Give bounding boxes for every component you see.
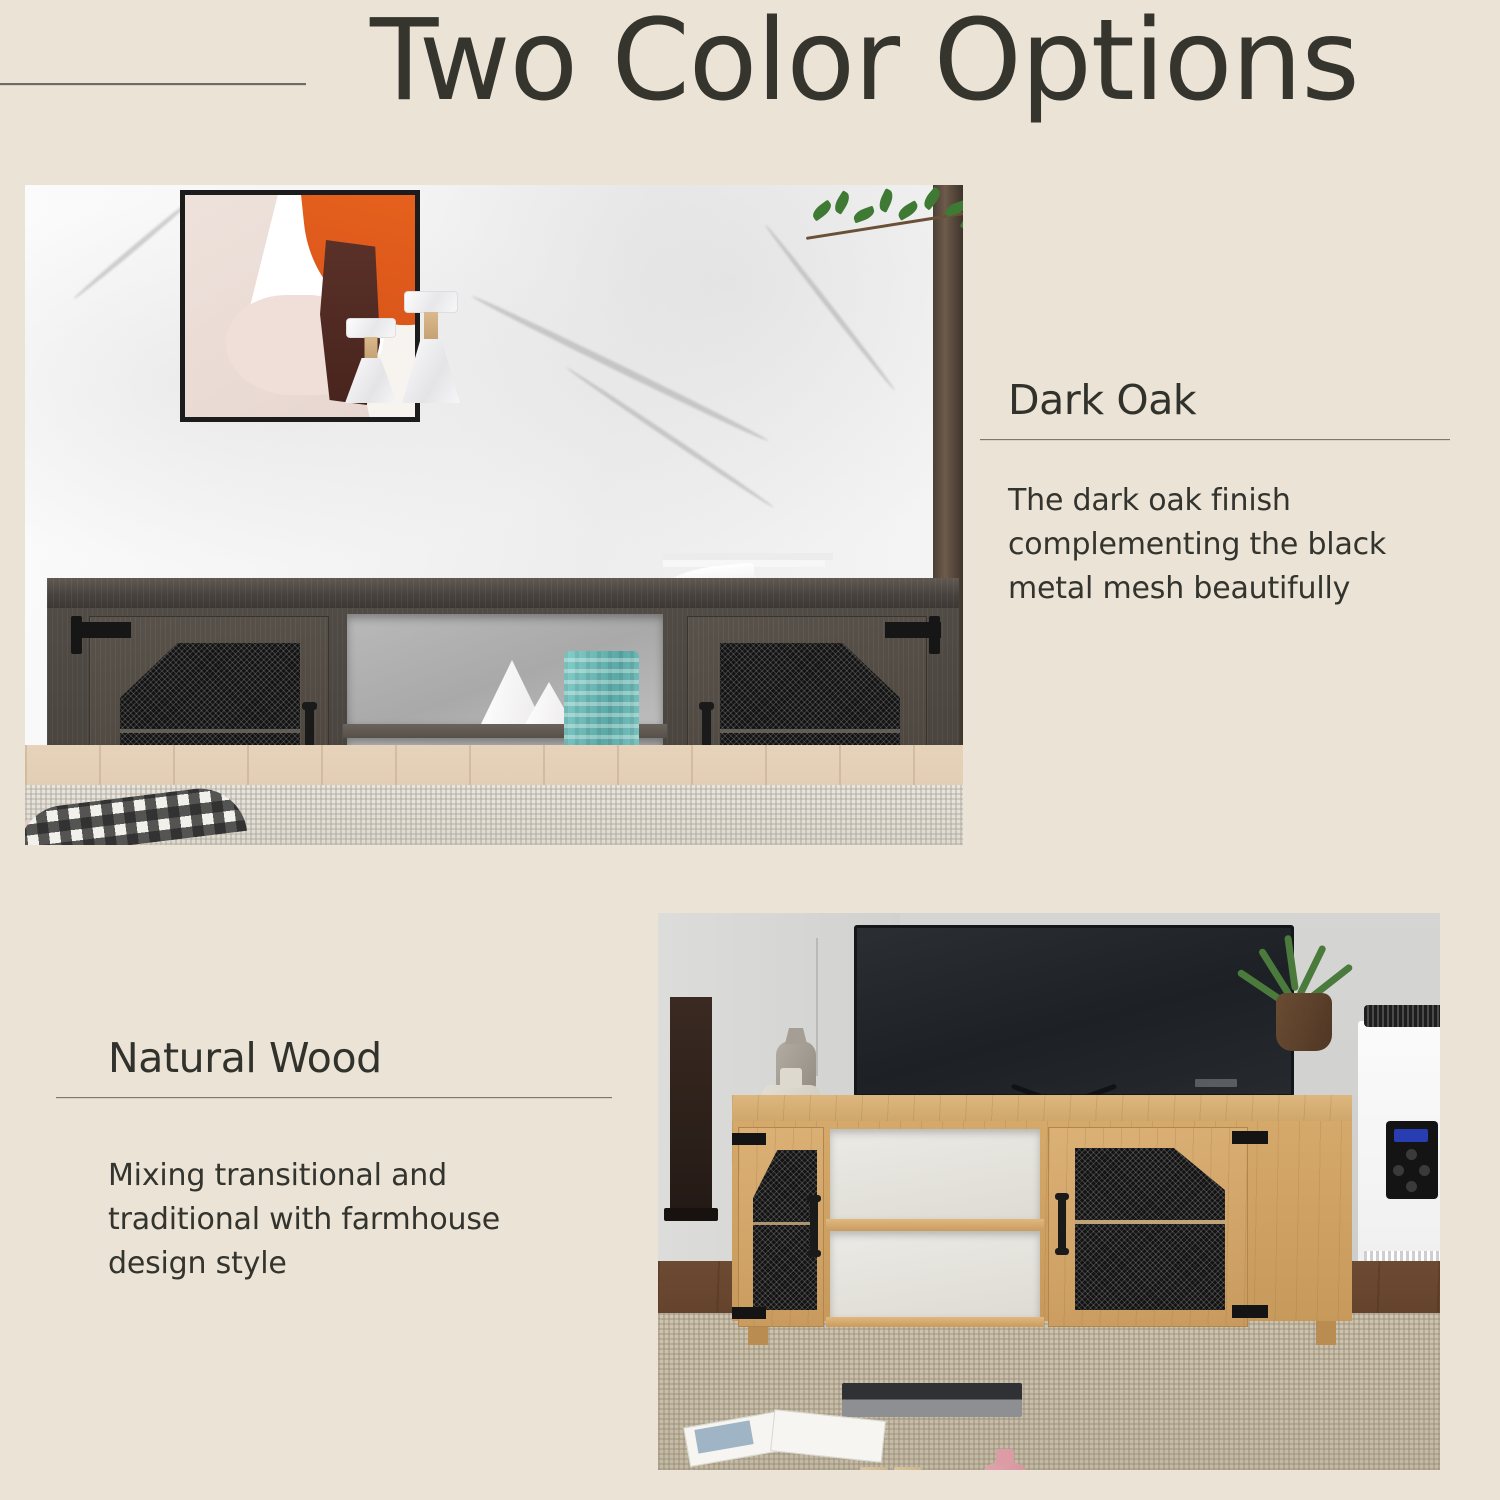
open-magazine bbox=[686, 1405, 886, 1461]
dark-oak-description: The dark oak finishcomplementing the bla… bbox=[980, 479, 1450, 611]
bottom-hinge-strap bbox=[732, 1307, 766, 1319]
mesh-shelf-highlight bbox=[1075, 1220, 1225, 1224]
magazine-page bbox=[770, 1409, 886, 1462]
top-hinge-plate bbox=[71, 616, 82, 654]
right-door-handle[interactable] bbox=[1058, 1195, 1066, 1253]
top-hinge-plate bbox=[929, 616, 940, 654]
title-accent-rule bbox=[0, 83, 306, 85]
candle-holder-stem bbox=[424, 312, 438, 340]
tv-brand-logo bbox=[1195, 1079, 1237, 1087]
top-hinge-strap bbox=[732, 1133, 766, 1145]
mesh-inner-shelf-line bbox=[753, 1222, 817, 1225]
top-hinge-strap bbox=[75, 622, 131, 638]
pink-vase bbox=[982, 1463, 1028, 1470]
natural-wood-description: Mixing transitional andtraditional with … bbox=[56, 1154, 612, 1286]
dark-oak-heading-rule bbox=[980, 439, 1450, 440]
marble-candle-holder bbox=[343, 318, 399, 403]
cabinet-top-surface bbox=[47, 578, 959, 608]
appliance-button[interactable] bbox=[1419, 1165, 1430, 1176]
leaf-icon bbox=[832, 190, 853, 214]
appliance-grill bbox=[1364, 1005, 1440, 1027]
dark-oak-text-block: Dark Oak The dark oak finishcomplementin… bbox=[980, 378, 1450, 611]
page-title: Two Color Options bbox=[370, 5, 1490, 117]
vase-neck bbox=[996, 1449, 1014, 1465]
natural-wood-heading: Natural Wood bbox=[56, 1036, 612, 1081]
appliance-display bbox=[1394, 1129, 1428, 1142]
natural-wood-heading-rule bbox=[56, 1097, 612, 1098]
dark-oak-heading: Dark Oak bbox=[980, 378, 1450, 423]
candle-holder-base bbox=[402, 339, 460, 403]
natural-wood-photo bbox=[658, 913, 1440, 1470]
wood-block bbox=[894, 1467, 922, 1470]
branch-stem bbox=[806, 209, 963, 240]
mesh-inner-shelf-line bbox=[720, 729, 900, 733]
leaf-icon bbox=[810, 200, 834, 222]
mesh-inner-shelf-line bbox=[120, 729, 300, 733]
poster-canvas: Two Color Options bbox=[0, 0, 1500, 1500]
open-shelf-lower bbox=[830, 1231, 1040, 1317]
bottom-shelf bbox=[826, 1317, 1044, 1327]
appliance-button[interactable] bbox=[1406, 1149, 1417, 1160]
speaker-base bbox=[664, 1208, 718, 1221]
open-shelf-upper bbox=[830, 1129, 1040, 1219]
appliance-vent bbox=[1364, 1251, 1440, 1261]
plant-branch bbox=[805, 191, 963, 261]
appliance-control-panel[interactable] bbox=[1386, 1121, 1438, 1199]
book-spine bbox=[663, 553, 833, 560]
natural-wood-text-block: Natural Wood Mixing transitional andtrad… bbox=[56, 1036, 612, 1286]
metal-mesh-panel bbox=[1075, 1148, 1225, 1310]
appliance-button[interactable] bbox=[1406, 1181, 1417, 1192]
leaf-icon bbox=[921, 187, 944, 211]
vase-neck bbox=[780, 1068, 802, 1088]
cabinet-leg bbox=[1316, 1321, 1336, 1345]
wood-block-decor bbox=[860, 1467, 924, 1470]
middle-shelf bbox=[826, 1219, 1044, 1231]
bottom-hinge-strap bbox=[1232, 1305, 1268, 1318]
television bbox=[854, 925, 1294, 1097]
marble-candle-holder bbox=[400, 291, 462, 403]
metal-mesh-panel bbox=[753, 1150, 817, 1310]
power-cord bbox=[816, 938, 818, 1076]
appliance-button[interactable] bbox=[1393, 1165, 1404, 1176]
leaf-icon bbox=[960, 217, 963, 237]
leaf-icon bbox=[876, 188, 896, 213]
candle-holder-base bbox=[345, 358, 397, 403]
leaf-icon bbox=[896, 200, 921, 221]
natural-wood-tv-stand bbox=[732, 1095, 1352, 1345]
cabinet-top-surface bbox=[732, 1095, 1352, 1121]
candle-holder-stem bbox=[365, 337, 378, 359]
tower-speaker bbox=[670, 997, 712, 1209]
top-hinge-strap bbox=[1232, 1131, 1268, 1144]
plant-pot bbox=[1276, 993, 1332, 1051]
leaf-icon bbox=[852, 206, 876, 224]
candle-holder-top bbox=[404, 291, 458, 313]
left-door-handle[interactable] bbox=[810, 1197, 818, 1255]
white-appliance bbox=[1358, 1021, 1440, 1277]
dark-oak-photo bbox=[25, 185, 963, 845]
right-mesh-door[interactable] bbox=[1048, 1127, 1248, 1327]
wood-block bbox=[860, 1467, 888, 1470]
potted-olive-plant bbox=[1250, 919, 1360, 1049]
candle-holder-top bbox=[346, 318, 396, 338]
